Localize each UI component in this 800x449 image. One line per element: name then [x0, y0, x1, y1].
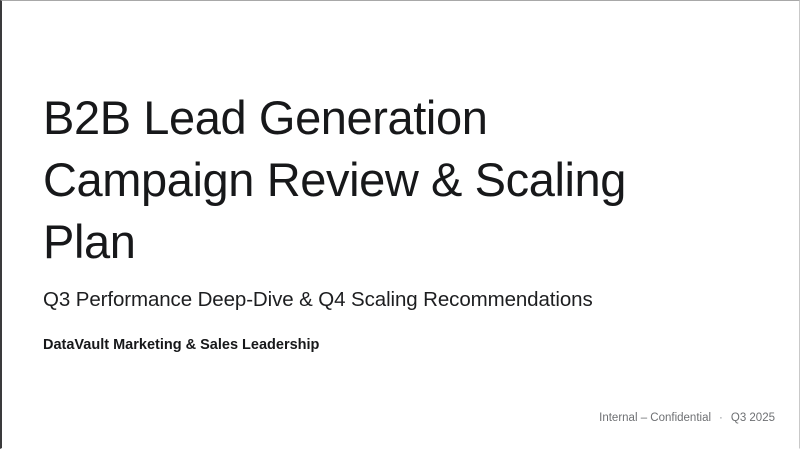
subtitle-block: Q3 Performance Deep-Dive & Q4 Scaling Re…: [43, 286, 775, 314]
title-block: B2B Lead Generation Campaign Review & Sc…: [43, 87, 775, 273]
footer-separator-dot: ·: [718, 410, 724, 426]
page-subtitle: Q3 Performance Deep-Dive & Q4 Scaling Re…: [43, 286, 775, 314]
author-byline: DataVault Marketing & Sales Leadership: [43, 334, 775, 356]
slide-footer: Internal – Confidential · Q3 2025: [599, 410, 775, 426]
title-line-3: Plan: [43, 215, 135, 268]
footer-period-label: Q3 2025: [731, 410, 775, 426]
title-line-2: Campaign Review & Scaling: [43, 153, 626, 206]
slide-content-area: B2B Lead Generation Campaign Review & Sc…: [43, 1, 775, 448]
title-line-1: B2B Lead Generation: [43, 91, 487, 144]
byline-block: DataVault Marketing & Sales Leadership: [43, 334, 775, 356]
title-slide: B2B Lead Generation Campaign Review & Sc…: [0, 0, 800, 449]
confidentiality-label: Internal – Confidential: [599, 410, 711, 426]
page-title: B2B Lead Generation Campaign Review & Sc…: [43, 87, 683, 273]
